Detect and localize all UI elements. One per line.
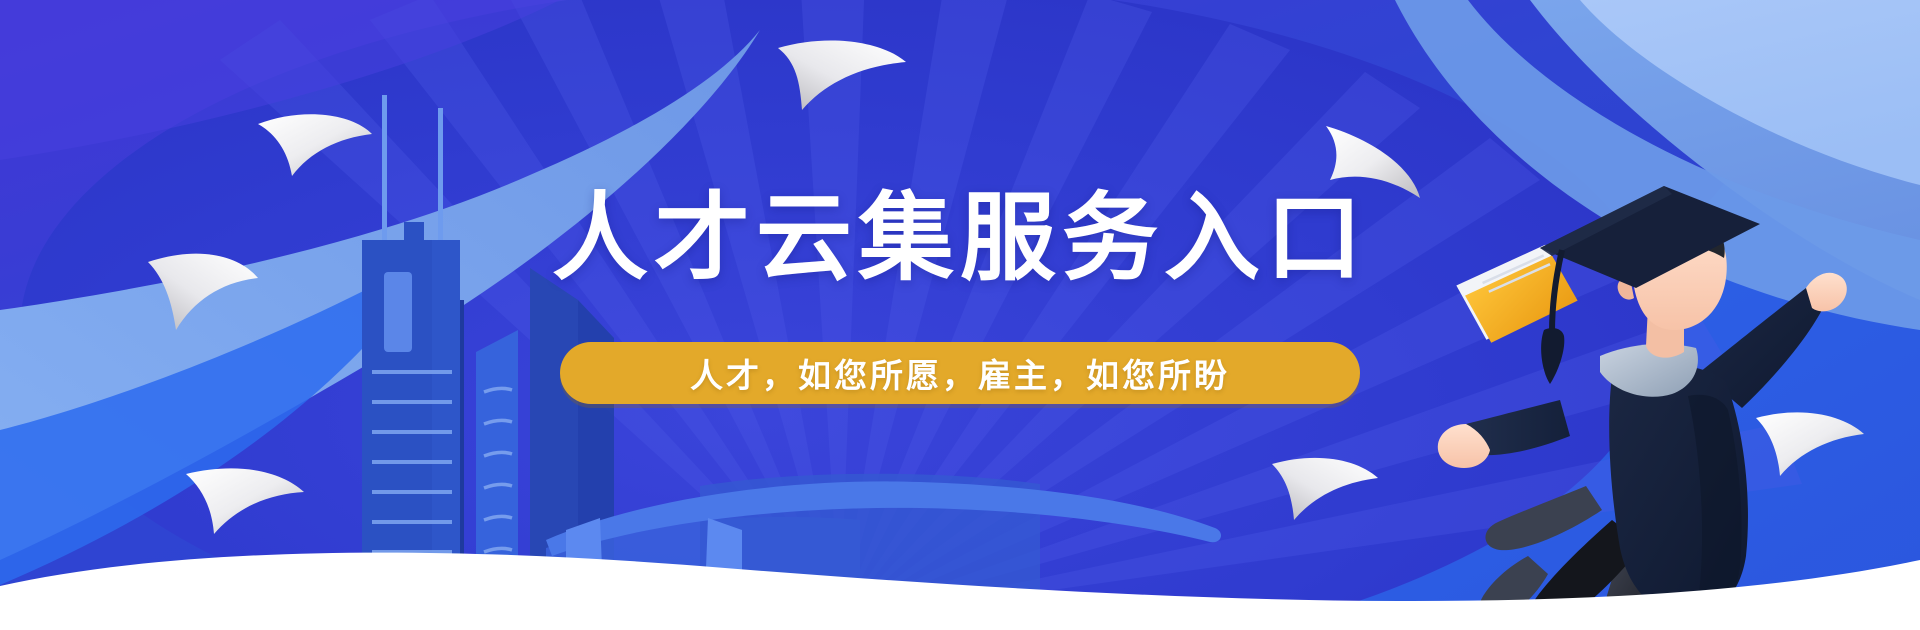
banner-background [0,0,1920,630]
tower-antenna-right [438,108,443,240]
hero-banner: 人才云集服务入口 人才，如您所愿，雇主，如您所盼 [0,0,1920,630]
tower-antenna-left [382,95,387,240]
tower-window-panel [384,272,412,352]
